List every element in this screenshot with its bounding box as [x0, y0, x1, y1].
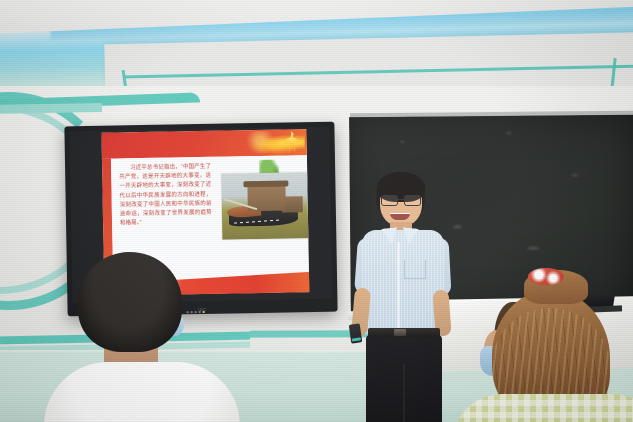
student-right-shirt: [452, 394, 633, 422]
slide-body-text: 习近平总书记指出，“中国产生了共产党，这是开天辟地的大事变。这一开天辟地的大事变…: [119, 163, 212, 229]
shirt-placket: [397, 242, 400, 330]
classroom-scene: 习近平总书记指出，“中国产生了共产党，这是开天辟地的大事变。这一开天辟地的大事变…: [0, 0, 633, 422]
shirt-pocket: [404, 260, 426, 279]
presenter: [352, 168, 462, 422]
presenter-shirt: [362, 230, 444, 334]
student-foreground-right: [478, 268, 633, 422]
student-left-hair: [78, 252, 182, 352]
student-foreground-left: [58, 252, 218, 422]
glasses-icon: [381, 195, 421, 205]
hair-scrunchie-icon: [528, 268, 564, 285]
trouser-seam: [403, 364, 405, 422]
shirt-texture: [362, 230, 444, 334]
student-left-shirt: [44, 362, 240, 422]
boat-roof: [244, 180, 289, 187]
slide-photo-red-boat: [221, 172, 308, 239]
slide-banner: [101, 129, 306, 159]
belt-buckle: [394, 329, 406, 336]
